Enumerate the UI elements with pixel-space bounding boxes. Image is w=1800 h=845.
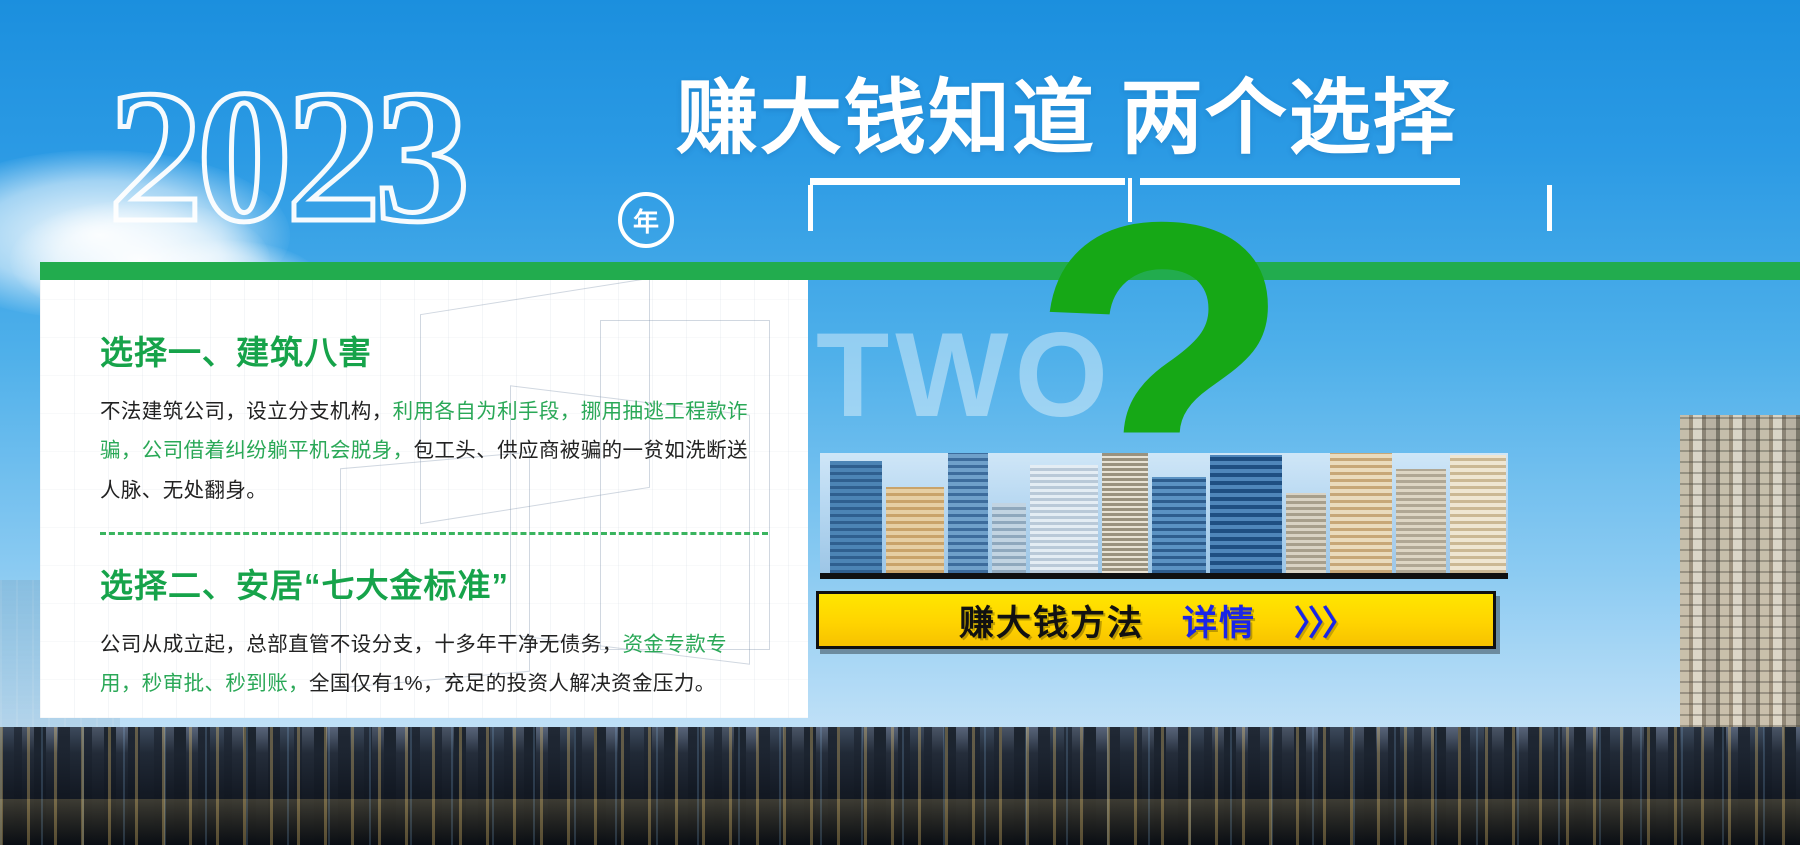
section-two-body: 公司从成立起，总部直管不设分支，十多年干净无债务，资金专款专用，秒审批、秒到账，… bbox=[100, 625, 768, 704]
building bbox=[1450, 455, 1506, 573]
building bbox=[948, 453, 988, 573]
panel-frame-right bbox=[1547, 185, 1552, 231]
section-one-title: 选择一、建筑八害 bbox=[100, 326, 768, 374]
building bbox=[1396, 469, 1446, 573]
building bbox=[1210, 455, 1282, 573]
year-number: 2023 bbox=[108, 62, 464, 252]
right-panel: TWO CHOICES ? 赚大钱方法 详情 〉〉〉 bbox=[808, 185, 1508, 635]
chevron-right-icon: 〉〉〉 bbox=[1294, 596, 1353, 645]
poster-banner: 2023 年 赚大钱知道 两个选择 选择一、建筑八害 不法建筑公司，设立分支机构… bbox=[0, 0, 1800, 845]
building bbox=[886, 487, 944, 573]
card-section-one: 选择一、建筑八害 不法建筑公司，设立分支机构，利用各自为利手段，挪用抽逃工程款诈… bbox=[100, 326, 768, 510]
building bbox=[992, 503, 1026, 573]
building bbox=[1330, 453, 1392, 573]
section-divider bbox=[100, 532, 768, 535]
bottom-city-strip bbox=[0, 727, 1800, 845]
year-block: 2023 年 bbox=[108, 62, 464, 252]
panel-frame-left bbox=[808, 185, 813, 231]
city-skyline-photo bbox=[820, 453, 1508, 579]
section-two-title: 选择二、安居“七大金标准” bbox=[100, 559, 768, 607]
card-section-two: 选择二、安居“七大金标准” 公司从成立起，总部直管不设分支，十多年干净无债务，资… bbox=[100, 559, 768, 704]
building bbox=[1102, 453, 1148, 573]
right-city-photo bbox=[1680, 415, 1800, 727]
section-one-text-a: 不法建筑公司，设立分支机构， bbox=[100, 400, 393, 423]
content-card: 选择一、建筑八害 不法建筑公司，设立分支机构，利用各自为利手段，挪用抽逃工程款诈… bbox=[40, 280, 808, 718]
section-two-text-c: 全国仅有1%，充足的投资人解决资金压力。 bbox=[309, 672, 716, 695]
cta-banner[interactable]: 赚大钱方法 详情 〉〉〉 bbox=[816, 591, 1496, 649]
building bbox=[1152, 477, 1206, 573]
section-one-body: 不法建筑公司，设立分支机构，利用各自为利手段，挪用抽逃工程款诈骗，公司借着纠纷躺… bbox=[100, 392, 768, 510]
year-suffix-badge: 年 bbox=[618, 192, 674, 248]
building bbox=[830, 461, 882, 573]
cta-main-label: 赚大钱方法 bbox=[959, 595, 1144, 646]
cta-detail-link[interactable]: 详情 bbox=[1182, 595, 1256, 646]
building bbox=[1286, 493, 1326, 573]
section-two-text-a: 公司从成立起，总部直管不设分支，十多年干净无债务， bbox=[100, 633, 623, 656]
building bbox=[1030, 465, 1098, 573]
